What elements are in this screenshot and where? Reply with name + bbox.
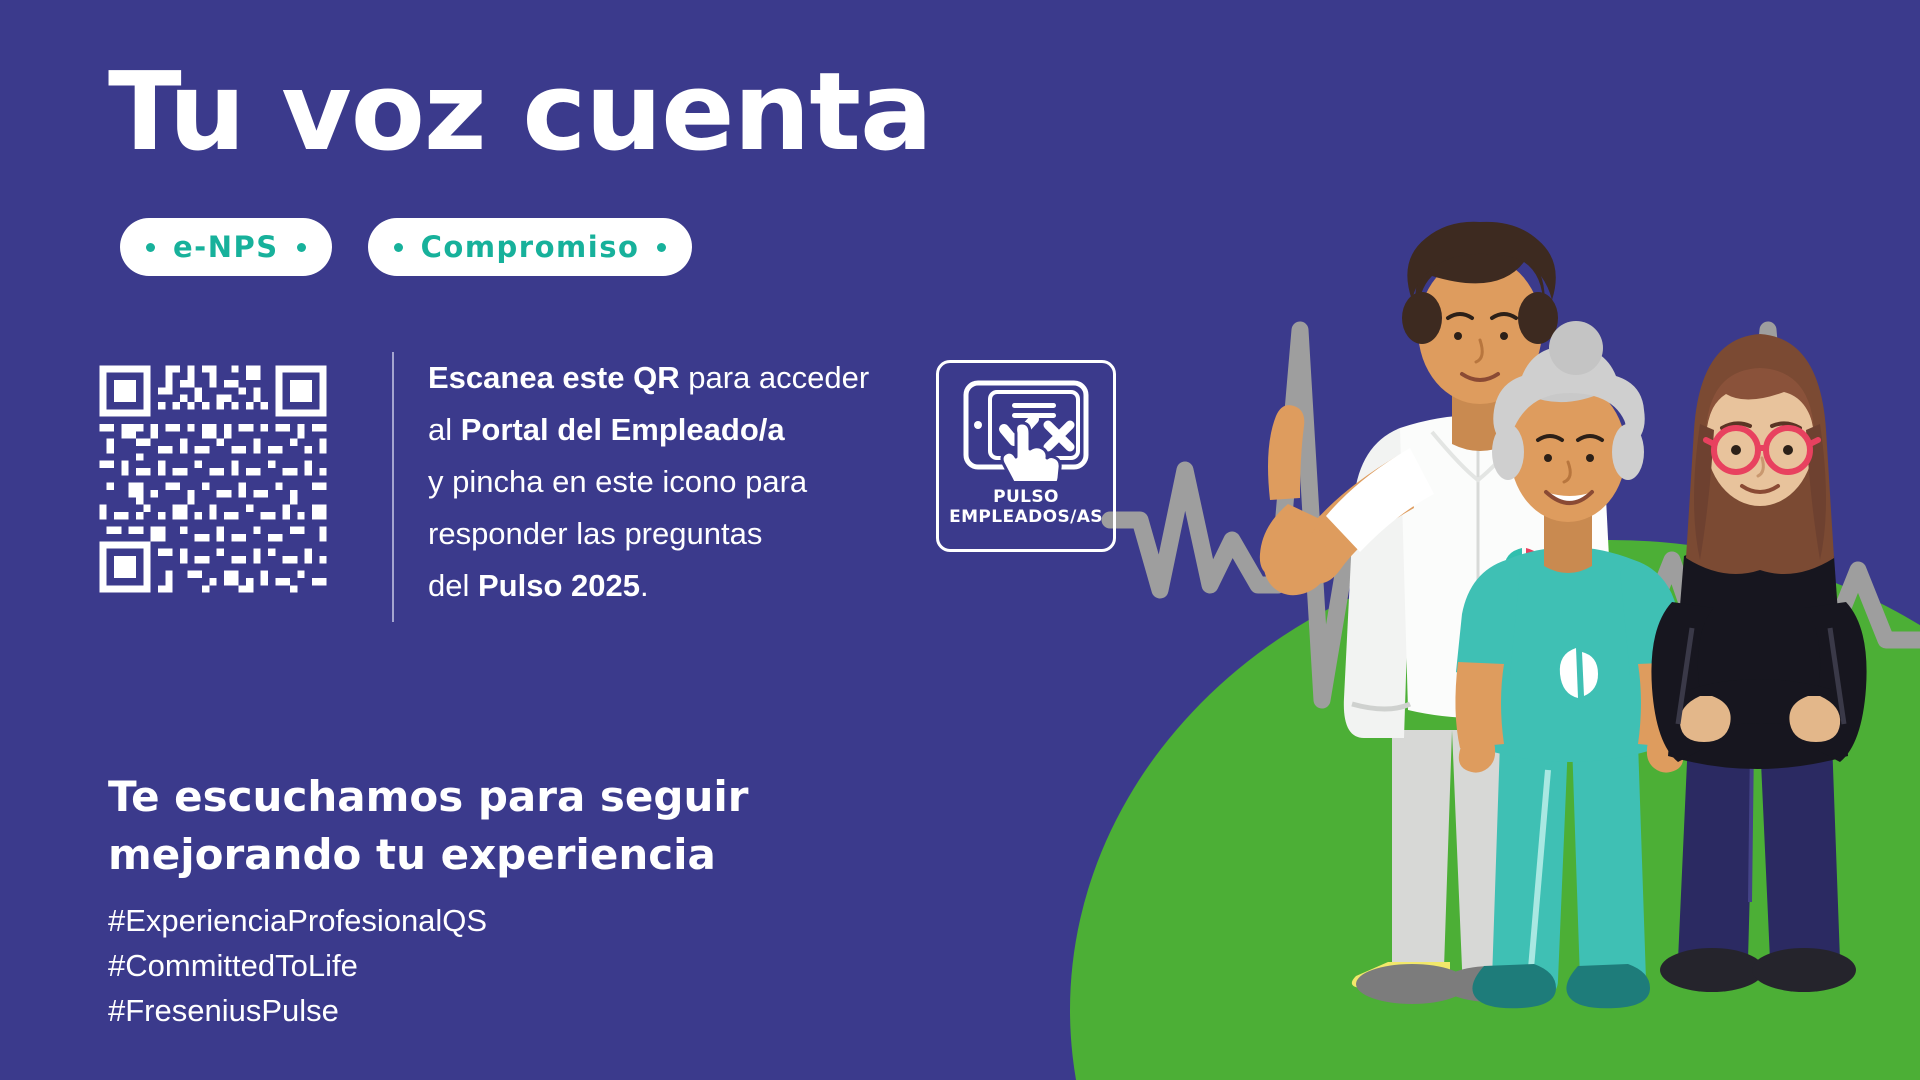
badge-enps: e-NPS <box>120 218 332 276</box>
hashtag-list: #ExperienciaProfesionalQS #CommittedToLi… <box>108 898 487 1033</box>
tablet-card-label: PULSO EMPLEADOS/AS <box>949 487 1103 527</box>
copy-line-4: responder las preguntas <box>428 508 938 560</box>
dot-icon <box>146 243 155 252</box>
copy-line-3: y pincha en este icono para <box>428 456 938 508</box>
poster-canvas: Tu voz cuenta e-NPS Compromiso <box>0 0 1920 1080</box>
badge-group: e-NPS Compromiso <box>120 218 692 276</box>
badge-compromiso-label: Compromiso <box>421 230 640 264</box>
badge-enps-label: e-NPS <box>173 230 279 264</box>
copy-line-2-pre: al <box>428 412 461 447</box>
tagline-line-2: mejorando tu experiencia <box>108 826 828 884</box>
copy-line-2-bold: Portal del Empleado/a <box>461 412 785 447</box>
copy-line-5-bold: Pulso 2025 <box>478 568 640 603</box>
tablet-label-line-2: EMPLEADOS/AS <box>949 507 1103 527</box>
tablet-survey-icon <box>960 377 1092 481</box>
tagline: Te escuchamos para seguir mejorando tu e… <box>108 768 828 884</box>
dot-icon <box>657 243 666 252</box>
tagline-line-1: Te escuchamos para seguir <box>108 768 828 826</box>
copy-line-5-post: . <box>640 568 649 603</box>
dot-icon <box>297 243 306 252</box>
hashtag-item: #FreseniusPulse <box>108 988 487 1033</box>
copy-line-5: del Pulso 2025. <box>428 560 938 612</box>
tablet-label-line-1: PULSO <box>949 487 1103 507</box>
hashtag-item: #ExperienciaProfesionalQS <box>108 898 487 943</box>
page-title: Tu voz cuenta <box>108 56 932 169</box>
hashtag-item: #CommittedToLife <box>108 943 487 988</box>
badge-compromiso: Compromiso <box>368 218 693 276</box>
qr-code[interactable] <box>92 358 334 600</box>
copy-line-2: al Portal del Empleado/a <box>428 404 938 456</box>
vertical-divider <box>392 352 394 622</box>
copy-line-1-bold: Escanea este QR <box>428 360 680 395</box>
pulso-empleados-icon-card[interactable]: PULSO EMPLEADOS/AS <box>936 360 1116 552</box>
instruction-text: Escanea este QR para acceder al Portal d… <box>428 352 938 612</box>
copy-line-5-pre: del <box>428 568 478 603</box>
copy-line-1-rest: para acceder <box>680 360 870 395</box>
copy-line-1: Escanea este QR para acceder <box>428 352 938 404</box>
dot-icon <box>394 243 403 252</box>
